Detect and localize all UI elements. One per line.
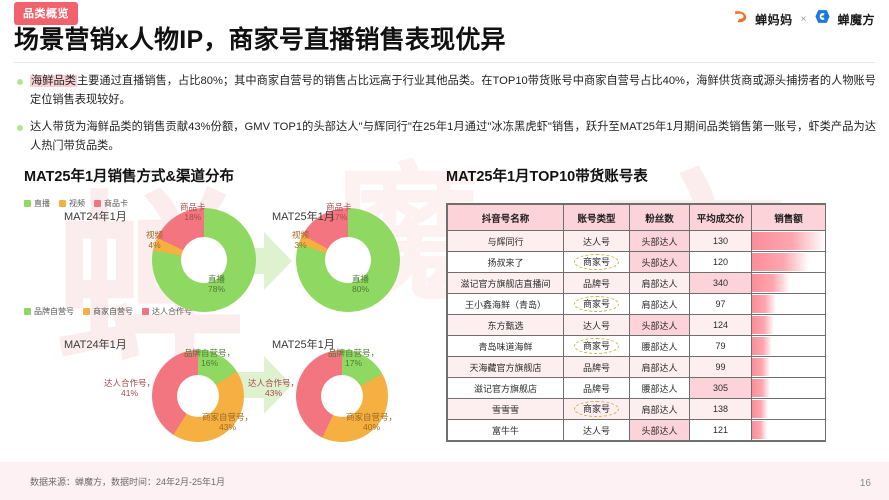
table-body: 与辉同行达人号头部达人130扬叔来了商家号头部达人120滋记官方旗舰店直播间品牌… xyxy=(448,231,826,441)
cell-avg-price: 120 xyxy=(690,252,752,273)
legend-label-merchant-account: 商家自营号 xyxy=(93,306,133,317)
cell-account-name: 东方甄选 xyxy=(448,315,564,336)
table-row: 王小鑫海鲜（青岛）商家号肩部达人97 xyxy=(448,294,826,315)
table-header-row: 抖音号名称 账号类型 粉丝数 平均成交价 销售额 xyxy=(448,205,826,231)
donut-4-label-brand: 品牌自营号，17% xyxy=(328,348,379,368)
sales-bar-fill xyxy=(752,379,770,397)
legend-item-brand-account: 品牌自营号 xyxy=(24,306,74,317)
col-header-avg-price: 平均成交价 xyxy=(690,205,752,231)
bullet-2-text: 达人带货为海鲜品类的销售贡献43%份额，GMV TOP1的头部达人"与辉同行"在… xyxy=(30,121,876,152)
merchant-account-marker: 商家号 xyxy=(574,401,619,417)
cell-sales-bar xyxy=(752,336,826,357)
donut-2-title: MAT25年1月 xyxy=(272,208,335,224)
donut-4-label-merchant: 商家自营号，40% xyxy=(346,412,397,432)
donut-1-label-live: 直播78% xyxy=(208,274,225,294)
top10-table-container: 抖音号名称 账号类型 粉丝数 平均成交价 销售额 与辉同行达人号头部达人130扬… xyxy=(446,203,826,442)
legend-swatch-product-card xyxy=(94,200,101,207)
cell-sales-bar xyxy=(752,231,826,252)
donut-2-label-live: 直播80% xyxy=(352,274,369,294)
cell-sales-bar xyxy=(752,252,826,273)
cell-account-type: 品牌号 xyxy=(564,273,630,294)
cell-fans-tier: 头部达人 xyxy=(630,315,690,336)
table-row: 与辉同行达人号头部达人130 xyxy=(448,231,826,252)
cell-account-type: 达人号 xyxy=(564,315,630,336)
cell-account-name: 王小鑫海鲜（青岛） xyxy=(448,294,564,315)
merchant-account-marker: 商家号 xyxy=(574,254,619,270)
left-panel-title: MAT25年1月销售方式&渠道分布 xyxy=(24,165,234,186)
sales-bar-fill xyxy=(752,295,776,313)
sales-bar-fill xyxy=(752,400,768,418)
footer-source: 数据来源：蝉魔方，数据时间：24年2月-25年1月 xyxy=(30,475,225,488)
donut-4-hole xyxy=(321,375,363,417)
donut-chart-4: 品牌自营号，17% 商家自营号，40% 达人合作号，43% xyxy=(296,350,388,442)
cell-account-type: 商家号 xyxy=(564,399,630,420)
cell-sales-bar xyxy=(752,273,826,294)
cell-account-type: 达人号 xyxy=(564,420,630,441)
col-header-account-type: 账号类型 xyxy=(564,205,630,231)
cell-account-name: 与辉同行 xyxy=(448,231,564,252)
brand-primary-label: 蝉妈妈 xyxy=(755,11,793,28)
cell-sales-bar xyxy=(752,294,826,315)
sales-bar-fill xyxy=(752,232,825,250)
slide-root: 蝉 方 魔 品类概览 蝉妈妈 × 蝉魔方 场景营销x人物IP，商家号直播销售表现… xyxy=(0,0,889,500)
cell-account-name: 滋记官方旗舰店 xyxy=(448,378,564,399)
cell-fans-tier: 肩部达人 xyxy=(630,357,690,378)
page-title: 场景营销x人物IP，商家号直播销售表现优异 xyxy=(14,20,506,56)
donut-2-label-video: 视频3% xyxy=(292,230,309,250)
cell-fans-tier: 肩部达人 xyxy=(630,273,690,294)
footer-page-number: 16 xyxy=(860,478,871,489)
sales-bar-fill xyxy=(752,358,770,376)
bullet-item-2: 达人带货为海鲜品类的销售贡献43%份额，GMV TOP1的头部达人"与辉同行"在… xyxy=(16,118,876,156)
legend-swatch-video xyxy=(59,200,66,207)
legend-swatch-merchant-account xyxy=(83,308,90,315)
legend-swatch-brand-account xyxy=(24,308,31,315)
donut-3-label-influencer: 达人合作号，41% xyxy=(104,378,155,398)
donut-4-label-influencer: 达人合作号，43% xyxy=(248,378,299,398)
cell-account-type: 商家号 xyxy=(564,294,630,315)
cell-account-type: 品牌号 xyxy=(564,357,630,378)
cell-account-name: 青岛味道海鲜 xyxy=(448,336,564,357)
sales-bar-fill xyxy=(752,337,772,355)
bullet-item-1: 海鲜品类主要通过直播销售，占比80%；其中商家自营号的销售占比远高于行业其他品类… xyxy=(16,72,876,110)
legend-swatch-influencer-account xyxy=(142,308,149,315)
chanmofang-logo-icon xyxy=(814,8,831,30)
donut-3-hole xyxy=(177,375,219,417)
sales-bar-fill xyxy=(752,316,774,334)
sales-bar-fill xyxy=(752,253,809,271)
col-header-sales: 销售额 xyxy=(752,205,826,231)
table-row: 富牛牛达人号头部达人121 xyxy=(448,420,826,441)
cell-account-type: 达人号 xyxy=(564,231,630,252)
donut-chart-1: 直播78% 商品卡18% 视频4% xyxy=(152,208,256,312)
sales-bar-fill xyxy=(752,274,790,292)
cell-account-name: 滋记官方旗舰店直播间 xyxy=(448,273,564,294)
donut-1-label-product-card: 商品卡18% xyxy=(180,202,206,222)
legend-label-live: 直播 xyxy=(34,198,50,209)
cell-avg-price: 130 xyxy=(690,231,752,252)
bullet-1-highlight: 海鲜品类 xyxy=(30,75,77,87)
donut-1-ring xyxy=(152,208,256,312)
cell-sales-bar xyxy=(752,420,826,441)
legend-item-live: 直播 xyxy=(24,198,50,209)
table-row: 青岛味道海鲜商家号腰部达人79 xyxy=(448,336,826,357)
merchant-account-marker: 商家号 xyxy=(574,296,619,312)
cell-account-name: 富牛牛 xyxy=(448,420,564,441)
cell-account-name: 扬叔来了 xyxy=(448,252,564,273)
brand-secondary-label: 蝉魔方 xyxy=(837,11,875,28)
cell-fans-tier: 肩部达人 xyxy=(630,399,690,420)
table-row: 滋记官方旗舰店品牌号腰部达人305 xyxy=(448,378,826,399)
cell-avg-price: 305 xyxy=(690,378,752,399)
cell-avg-price: 79 xyxy=(690,336,752,357)
legend-label-brand-account: 品牌自营号 xyxy=(34,306,74,317)
cell-fans-tier: 腰部达人 xyxy=(630,378,690,399)
donut-3-title: MAT24年1月 xyxy=(64,336,127,352)
cell-fans-tier: 头部达人 xyxy=(630,420,690,441)
title-divider xyxy=(14,62,875,63)
cell-sales-bar xyxy=(752,399,826,420)
donut-3-label-merchant: 商家自营号，43% xyxy=(202,412,253,432)
legend-swatch-live xyxy=(24,200,31,207)
cell-account-name: 天海藏官方旗舰店 xyxy=(448,357,564,378)
cell-sales-bar xyxy=(752,357,826,378)
donut-3-label-brand: 品牌自营号，16% xyxy=(184,348,235,368)
donut-1-label-video: 视频4% xyxy=(146,230,163,250)
cell-account-type: 商家号 xyxy=(564,336,630,357)
cell-sales-bar xyxy=(752,315,826,336)
cell-avg-price: 97 xyxy=(690,294,752,315)
cell-fans-tier: 头部达人 xyxy=(630,231,690,252)
col-header-fans: 粉丝数 xyxy=(630,205,690,231)
table-row: 东方甄选达人号头部达人124 xyxy=(448,315,826,336)
cell-avg-price: 124 xyxy=(690,315,752,336)
merchant-account-marker: 商家号 xyxy=(574,338,619,354)
cell-account-name: 雪雪雪 xyxy=(448,399,564,420)
bullet-1-text: 主要通过直播销售，占比80%；其中商家自营号的销售占比远高于行业其他品类。在TO… xyxy=(30,75,876,106)
cell-account-type: 品牌号 xyxy=(564,378,630,399)
top10-table: 抖音号名称 账号类型 粉丝数 平均成交价 销售额 与辉同行达人号头部达人130扬… xyxy=(447,204,826,441)
legend-item-merchant-account: 商家自营号 xyxy=(83,306,133,317)
cell-fans-tier: 肩部达人 xyxy=(630,294,690,315)
donut-1-title: MAT24年1月 xyxy=(64,208,127,224)
brand-bar: 蝉妈妈 × 蝉魔方 xyxy=(732,8,875,30)
table-row: 扬叔来了商家号头部达人120 xyxy=(448,252,826,273)
insight-bullets: 海鲜品类主要通过直播销售，占比80%；其中商家自营号的销售占比远高于行业其他品类… xyxy=(16,72,876,164)
chanmama-logo-icon xyxy=(732,8,749,30)
brand-separator: × xyxy=(801,14,807,25)
cell-account-type: 商家号 xyxy=(564,252,630,273)
col-header-account-name: 抖音号名称 xyxy=(448,205,564,231)
sales-bar-fill xyxy=(752,421,767,439)
cell-sales-bar xyxy=(752,378,826,399)
cell-fans-tier: 腰部达人 xyxy=(630,336,690,357)
cell-fans-tier: 头部达人 xyxy=(630,252,690,273)
donut-4-title: MAT25年1月 xyxy=(272,336,335,352)
cell-avg-price: 340 xyxy=(690,273,752,294)
table-row: 雪雪雪商家号肩部达人138 xyxy=(448,399,826,420)
table-row: 天海藏官方旗舰店品牌号肩部达人99 xyxy=(448,357,826,378)
cell-avg-price: 99 xyxy=(690,357,752,378)
donut-chart-3: 品牌自营号，16% 商家自营号，43% 达人合作号，41% xyxy=(152,350,244,442)
cell-avg-price: 121 xyxy=(690,420,752,441)
table-row: 滋记官方旗舰店直播间品牌号肩部达人340 xyxy=(448,273,826,294)
right-panel-title: MAT25年1月TOP10带货账号表 xyxy=(446,165,648,186)
cell-avg-price: 138 xyxy=(690,399,752,420)
